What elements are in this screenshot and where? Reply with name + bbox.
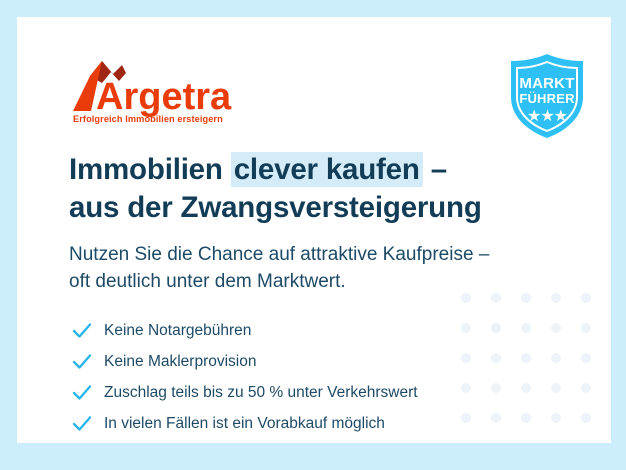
subheadline: Nutzen Sie die Chance auf attraktive Kau… [69,241,569,295]
headline-highlight: clever kaufen [231,152,423,187]
promo-banner: Argetra Erfolgreich Immobilien ersteiger… [0,0,626,470]
argetra-logo[interactable]: Argetra Erfolgreich Immobilien ersteiger… [69,59,269,125]
dot [551,323,561,333]
list-item-label: In vielen Fällen ist ein Vorabkauf mögli… [104,408,385,439]
check-icon [72,414,92,434]
headline-part-post: – [423,153,447,186]
check-icon [72,352,92,372]
dot [581,323,591,333]
check-icon [72,321,92,341]
list-item: Keine Notargebühren [72,315,542,346]
logo-wordmark: Argetra [96,76,232,118]
headline-line-2: aus der Zwangsversteigerung [69,189,589,227]
market-leader-badge: MARKT FÜHRER ★★★ [506,53,588,139]
dot [581,293,591,303]
dot [581,353,591,363]
logo-tagline: Erfolgreich Immobilien ersteigern [73,114,223,124]
dot [551,353,561,363]
dot [581,413,591,423]
list-item: Zuschlag teils bis zu 50 % unter Verkehr… [72,377,542,408]
list-item-label: Zuschlag teils bis zu 50 % unter Verkehr… [104,377,418,408]
badge-stars: ★★★ [527,106,568,125]
list-item-label: Keine Maklerprovision [104,346,257,377]
list-item-label: Keine Notargebühren [104,315,251,346]
badge-line2: FÜHRER [519,91,575,106]
page-title: Immobilien clever kaufen – aus der Zwang… [69,151,589,227]
dot [581,383,591,393]
check-icon [72,383,92,403]
list-item: In vielen Fällen ist ein Vorabkauf mögli… [72,408,542,439]
subheadline-line-1: Nutzen Sie die Chance auf attraktive Kau… [69,241,569,268]
headline-line-1: Immobilien clever kaufen – [69,151,589,189]
dot [551,383,561,393]
benefits-list: Keine Notargebühren Keine Maklerprovisio… [72,315,542,439]
content-card: Argetra Erfolgreich Immobilien ersteiger… [17,17,611,443]
headline-part-pre: Immobilien [69,153,231,186]
list-item: Keine Maklerprovision [72,346,542,377]
dot [551,413,561,423]
badge-line1: MARKT [519,75,574,92]
subheadline-line-2: oft deutlich unter dem Marktwert. [69,268,569,295]
